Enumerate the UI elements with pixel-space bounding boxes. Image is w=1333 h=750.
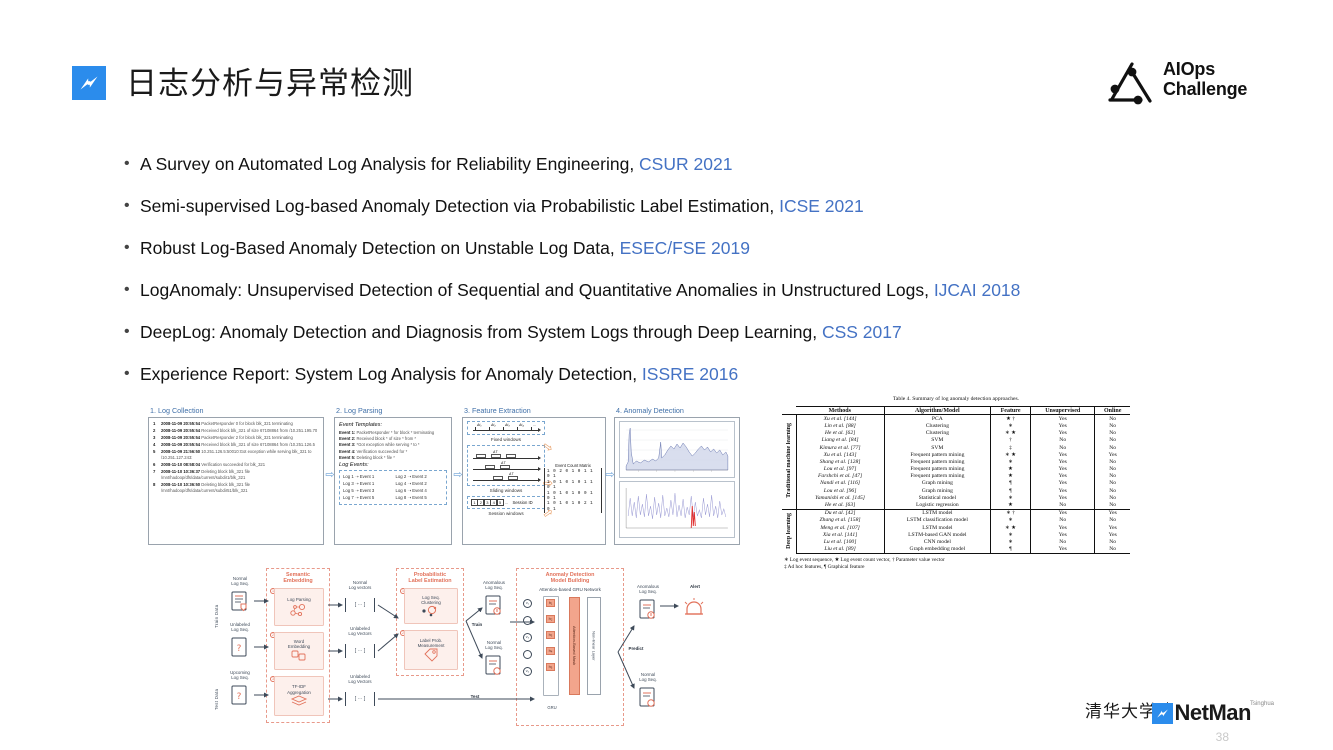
cell-unsupervised: Yes bbox=[1031, 422, 1095, 429]
cell-online: No bbox=[1095, 487, 1130, 494]
cell-model: Graph mining bbox=[884, 487, 990, 494]
log-index: 7 bbox=[153, 469, 161, 482]
col-header-model: Algorithm/Model bbox=[884, 407, 990, 415]
cell-model: Frequent pattern mining bbox=[884, 466, 990, 473]
gru-input-column: v₁ v₃ v₅ bbox=[523, 599, 532, 676]
output-anomalous-doc-icon bbox=[638, 598, 658, 620]
gru-input-node bbox=[523, 616, 532, 625]
panel-title: 1. Log Collection bbox=[150, 406, 324, 415]
table-row: Meng et al. [107]LSTM model∗ ★YesYes bbox=[782, 524, 1130, 531]
gru-input-node: v₁ bbox=[523, 599, 532, 608]
cell-method: Lou et al. [96] bbox=[796, 487, 884, 494]
template-line: Event 5: Deleting block * file * bbox=[339, 455, 447, 461]
cell-model: CNN model bbox=[884, 538, 990, 545]
cell-feature: ∗ bbox=[991, 538, 1031, 545]
log-index: 2 bbox=[153, 428, 161, 434]
card-label-prob-measurement: Label Prob. Measurement bbox=[404, 630, 458, 670]
vector-normal: [ ⋯ ] bbox=[345, 598, 375, 612]
normal-log-doc-icon-2 bbox=[484, 654, 504, 676]
vector-label-upcoming: UnlabeledLog Vectors bbox=[338, 674, 382, 685]
table-row: Kimura et al. [77]SVM‡NoNo bbox=[782, 444, 1130, 451]
cell-feature: ∗ bbox=[991, 531, 1031, 538]
table-row: Lin et al. [88]Clustering∗YesNo bbox=[782, 422, 1130, 429]
cell-unsupervised: Yes bbox=[1031, 546, 1095, 554]
log-event-map: Log 2 ➝ Event 2 bbox=[396, 474, 444, 480]
log-line: 22008-11-09 20:55:54 Received block blk_… bbox=[153, 428, 319, 434]
train-arrow-label: Train bbox=[460, 622, 494, 627]
table-row: Liu et al. [89]Graph embedding model¶Yes… bbox=[782, 546, 1130, 554]
reference-title: Robust Log-Based Anomaly Detection on Un… bbox=[140, 238, 620, 258]
cell-unsupervised: Yes bbox=[1031, 466, 1095, 473]
axis: Δt₁ Δt₂ Δt₃ Δt₄ … bbox=[471, 424, 541, 432]
netman-n-logo-icon bbox=[72, 66, 106, 100]
cell-model: Logistic regression bbox=[884, 501, 990, 509]
cell-online: No bbox=[1095, 480, 1130, 487]
reference-title: Semi-supervised Log-based Anomaly Detect… bbox=[140, 196, 779, 216]
cell-method: Xu et al. [144] bbox=[796, 415, 884, 423]
table-row: Lou et al. [97]Frequent pattern mining★Y… bbox=[782, 466, 1130, 473]
matrix-row: 1 0 1 0 1 0 2 1 0 1 bbox=[547, 501, 599, 512]
graph-nodes-icon bbox=[289, 603, 309, 617]
reference-title: DeepLog: Anomaly Detection and Diagnosis… bbox=[140, 322, 822, 342]
cell-method: Nandi et al. [116] bbox=[796, 480, 884, 487]
cell-online: Yes bbox=[1095, 451, 1130, 458]
matrix-row: 1 0 1 0 1 0 0 1 0 1 bbox=[547, 491, 599, 502]
log-line: 72008-11-10 10:36:37 Deleting block blk_… bbox=[153, 469, 319, 482]
log-timestamp: 2008-11-10 08:58:04 bbox=[161, 462, 200, 467]
cell-unsupervised: No bbox=[1031, 501, 1095, 509]
cell-feature: ‡ bbox=[991, 444, 1031, 451]
cell-feature: ★ † bbox=[991, 415, 1031, 423]
vector-label-unlabeled: UnlabeledLog Vectors bbox=[338, 626, 382, 637]
cell-model: LSTM model bbox=[884, 509, 990, 517]
anomaly-timeseries-chart-2 bbox=[619, 481, 735, 538]
aiops-wordmark: AIOps Challenge bbox=[1163, 59, 1247, 99]
cell-online: No bbox=[1095, 538, 1130, 545]
log-collection-box: 12008-11-09 20:55:54 PacketResponder 0 f… bbox=[148, 417, 324, 545]
table-row: Xia et al. [141]LSTM-based GAN model∗Yes… bbox=[782, 531, 1130, 538]
reference-text: Semi-supervised Log-based Anomaly Detect… bbox=[140, 194, 864, 218]
blocks-icon bbox=[290, 649, 308, 663]
cell-model: Graph mining bbox=[884, 480, 990, 487]
cell-method: Kimura et al. [77] bbox=[796, 444, 884, 451]
cell-model: LSTM classification model bbox=[884, 517, 990, 524]
table-row: He et al. [63]Logistic regression★NoNo bbox=[782, 501, 1130, 509]
log-line: 42008-11-09 20:55:54 Received block blk_… bbox=[153, 442, 319, 448]
cell-unsupervised: Yes bbox=[1031, 509, 1095, 517]
log-event-map: Log 3 ➝ Event 1 bbox=[343, 481, 391, 487]
col-header-methods: Methods bbox=[796, 407, 884, 415]
log-timestamp: 2008-11-09 20:55:54 bbox=[161, 428, 200, 433]
log-timestamp: 2008-11-10 10:36:50 bbox=[161, 482, 200, 487]
cell-online: No bbox=[1095, 473, 1130, 480]
card-word-embedding: Word Embedding bbox=[274, 632, 324, 670]
cell-online: Yes bbox=[1095, 524, 1130, 531]
log-timestamp: 2008-11-09 20:55:54 bbox=[161, 435, 200, 440]
aiops-triangle-icon bbox=[1105, 59, 1157, 107]
cell-method: Yamanishi et al. [145] bbox=[796, 494, 884, 501]
reference-text: A Survey on Automated Log Analysis for R… bbox=[140, 152, 732, 176]
output-label-normal: NormalLog Seq. bbox=[626, 672, 670, 683]
fixed-tick-label: Δt₄ bbox=[519, 423, 524, 427]
sliding-windows-axis: ΔT ΔT ΔT bbox=[467, 445, 545, 486]
cell-method: Xu et al. [143] bbox=[796, 451, 884, 458]
fixed-tick-label: Δt₁ bbox=[477, 423, 482, 427]
gru-input-node bbox=[523, 650, 532, 659]
matrix-body: 1 0 2 0 1 0 1 1 0 1 1 0 1 0 1 0 1 1 0 1 … bbox=[544, 468, 602, 513]
cell-method: Lin et al. [88] bbox=[796, 422, 884, 429]
cell-online: No bbox=[1095, 458, 1130, 465]
alert-bell-icon bbox=[682, 596, 706, 620]
fixed-windows-axis: Δt₁ Δt₂ Δt₃ Δt₄ … bbox=[467, 421, 545, 435]
reference-text: DeepLog: Anomaly Detection and Diagnosis… bbox=[140, 320, 902, 344]
reference-title: Experience Report: System Log Analysis f… bbox=[140, 364, 642, 384]
non-linear-layer-bar: Non-linear Layer bbox=[587, 597, 601, 695]
svg-text:?: ? bbox=[237, 644, 242, 654]
alert-label: Alert bbox=[680, 584, 710, 589]
cell-model: Frequent pattern mining bbox=[884, 451, 990, 458]
log-line: 82008-11-10 10:36:50 Deleting block blk_… bbox=[153, 482, 319, 495]
cell-unsupervised: Yes bbox=[1031, 494, 1095, 501]
slide-header: 日志分析与异常检测 AIOps Challenge bbox=[0, 0, 1333, 130]
cell-unsupervised: Yes bbox=[1031, 415, 1095, 423]
table-header-row: Methods Algorithm/Model Feature Unsuperv… bbox=[782, 407, 1130, 415]
gru-network: v₁ v₃ v₅ h₁ h₂ h₃ h₄ h₅ GRU Attention-Ba… bbox=[517, 595, 623, 703]
matrix-row: 1 0 1 0 1 0 1 1 0 1 bbox=[547, 480, 599, 491]
log-line: 52008-11-09 21:56:50 10.251.126.5:50010:… bbox=[153, 449, 319, 462]
cell-model: Frequent pattern mining bbox=[884, 458, 990, 465]
bullet-marker: • bbox=[124, 194, 140, 218]
reference-title: LogAnomaly: Unsupervised Detection of Se… bbox=[140, 280, 934, 300]
template-name: Event 3: bbox=[339, 442, 355, 447]
tsinghua-university-logo: 清华大学 bbox=[1085, 697, 1157, 722]
output-label-anomalous: AnomalousLog Seq. bbox=[626, 584, 670, 595]
cell-online: No bbox=[1095, 517, 1130, 524]
reference-venue: ESEC/FSE 2019 bbox=[620, 238, 750, 258]
cell-model: Frequent pattern mining bbox=[884, 473, 990, 480]
log-event-map: Log 4 ➝ Event 2 bbox=[396, 481, 444, 487]
card-log-parsing: Log Parsing bbox=[274, 588, 324, 626]
cell-method: Zhang et al. [158] bbox=[796, 517, 884, 524]
cell-method: Liu et al. [89] bbox=[796, 546, 884, 554]
branch-label-anomalous: AnomalousLog Seq. bbox=[472, 580, 516, 591]
netman-superscript: Tsinghua bbox=[1250, 701, 1274, 707]
log-line: 32008-11-09 20:55:54 PacketResponder 2 f… bbox=[153, 435, 319, 441]
event-templates-label: Event Templates: bbox=[339, 422, 447, 428]
cell-online: Yes bbox=[1095, 509, 1130, 517]
cell-feature: ★ bbox=[991, 466, 1031, 473]
group-label-traditional: Traditional machine learning bbox=[782, 415, 796, 509]
panel-log-collection: 1. Log Collection 12008-11-09 20:55:54 P… bbox=[148, 406, 324, 554]
table-row: Lou et al. [96]Graph mining¶YesNo bbox=[782, 487, 1130, 494]
cell-unsupervised: Yes bbox=[1031, 430, 1095, 437]
cell-model: Clustering bbox=[884, 422, 990, 429]
cell-online: No bbox=[1095, 501, 1130, 509]
bullet-marker: • bbox=[124, 278, 140, 302]
delta-t-label: ΔT bbox=[509, 472, 514, 476]
netman-logo: NetMan Tsinghua bbox=[1152, 700, 1275, 726]
table-row: He et al. [62]Clustering∗ ★YesNo bbox=[782, 430, 1130, 437]
cell-online: Yes bbox=[1095, 531, 1130, 538]
table-row: Farshchi et al. [47]Frequent pattern min… bbox=[782, 473, 1130, 480]
session-windows-caption: Session windows bbox=[467, 511, 545, 516]
svg-text:?: ? bbox=[237, 692, 242, 702]
log-body: 2008-11-09 20:55:54 PacketResponder 2 fo… bbox=[161, 435, 319, 441]
reference-title: A Survey on Automated Log Analysis for R… bbox=[140, 154, 639, 174]
template-name: Event 1: bbox=[339, 430, 355, 435]
bullet-marker: • bbox=[124, 152, 140, 176]
stage3-subtitle: Attention-based GRU Network bbox=[517, 587, 623, 592]
fixed-tick-label: Δt₃ bbox=[505, 423, 510, 427]
stage3-title: Anomaly DetectionModel Building bbox=[517, 569, 623, 585]
gru-label: GRU bbox=[540, 705, 564, 710]
col-header-feature: Feature bbox=[991, 407, 1031, 415]
cell-unsupervised: No bbox=[1031, 538, 1095, 545]
template-name: Event 5: bbox=[339, 455, 355, 460]
fixed-windows-group: Δt₁ Δt₂ Δt₃ Δt₄ … Fixed windows ΔT bbox=[467, 421, 545, 516]
upcoming-log-doc-icon: ? bbox=[230, 684, 250, 706]
cell-method: He et al. [63] bbox=[796, 501, 884, 509]
fixed-tick-label: … bbox=[533, 423, 537, 427]
stage1-title: SemanticEmbedding bbox=[267, 569, 329, 585]
log-body: 2008-11-09 20:55:54 PacketResponder 0 fo… bbox=[161, 421, 319, 427]
side-label-train-data: Train Data bbox=[214, 580, 219, 628]
log-timestamp: 2008-11-09 20:55:54 bbox=[161, 442, 200, 447]
slide-footer: 清华大学 NetMan Tsinghua 38 bbox=[973, 678, 1333, 750]
cell-model: SVM bbox=[884, 444, 990, 451]
cell-method: Xia et al. [141] bbox=[796, 531, 884, 538]
col-header-unsupervised: Unsupervised bbox=[1031, 407, 1095, 415]
cell-online: No bbox=[1095, 415, 1130, 423]
anomaly-timeseries-chart-1 bbox=[619, 421, 735, 478]
log-events-box: Log 1 ➝ Event 1 Log 2 ➝ Event 2 Log 3 ➝ … bbox=[339, 470, 447, 505]
log-event-map: Log 5 ➝ Event 3 bbox=[343, 488, 391, 494]
stage2-title: ProbabilisticLabel Estimation bbox=[397, 569, 463, 585]
log-body: 2008-11-09 21:56:50 10.251.126.5:50010:G… bbox=[161, 449, 319, 462]
log-body: 2008-11-10 10:36:50 Deleting block blk_3… bbox=[161, 482, 319, 495]
feature-extraction-box: Δt₁ Δt₂ Δt₃ Δt₄ … Fixed windows ΔT bbox=[462, 417, 606, 545]
log-message: PacketResponder 0 for block blk_321 term… bbox=[201, 421, 292, 426]
delta-t-label: ΔT bbox=[493, 450, 498, 454]
anomalous-log-doc-icon bbox=[484, 594, 504, 616]
cell-online: No bbox=[1095, 430, 1130, 437]
log-index: 6 bbox=[153, 462, 161, 468]
page-title: 日志分析与异常检测 bbox=[126, 58, 414, 103]
sliding-windows-caption: Sliding windows bbox=[467, 488, 545, 493]
cell-feature: ∗ ★ bbox=[991, 451, 1031, 458]
table-row: Nandi et al. [116]Graph mining¶YesNo bbox=[782, 480, 1130, 487]
panel-title: 3. Feature Extraction bbox=[464, 406, 606, 415]
template-name: Event 4: bbox=[339, 449, 355, 454]
template-body: Received block * of size * from * bbox=[356, 436, 416, 441]
gru-hidden-cell: h₅ bbox=[546, 663, 555, 671]
cell-online: No bbox=[1095, 444, 1130, 451]
fixed-windows-caption: Fixed windows bbox=[467, 437, 545, 442]
cell-method: Liang et al. [84] bbox=[796, 437, 884, 444]
panel-title: 2. Log Parsing bbox=[336, 406, 452, 415]
template-line: Event 4: Verification succeeded for * bbox=[339, 449, 447, 455]
log-index: 3 bbox=[153, 435, 161, 441]
reference-venue: CSS 2017 bbox=[822, 322, 902, 342]
log-timestamp: 2008-11-10 10:36:37 bbox=[161, 469, 200, 474]
log-parsing-box: Event Templates: Event 1: PacketResponde… bbox=[334, 417, 452, 545]
page-number: 38 bbox=[1216, 730, 1229, 744]
gru-hidden-cell: h₂ bbox=[546, 615, 555, 623]
cell-unsupervised: No bbox=[1031, 517, 1095, 524]
table-row: Lu et al. [100]CNN model∗NoNo bbox=[782, 538, 1130, 545]
cell-feature: ¶ bbox=[991, 546, 1031, 554]
cell-feature: ∗ bbox=[991, 458, 1031, 465]
cell-unsupervised: Yes bbox=[1031, 480, 1095, 487]
reference-text: Experience Report: System Log Analysis f… bbox=[140, 362, 738, 386]
bullet-marker: • bbox=[124, 236, 140, 260]
cell-feature: ¶ bbox=[991, 480, 1031, 487]
cell-feature: ¶ bbox=[991, 487, 1031, 494]
list-item: • A Survey on Automated Log Analysis for… bbox=[124, 152, 1244, 194]
side-label-test-data: Test Data bbox=[214, 670, 219, 710]
session-id-label: Session ID bbox=[512, 500, 532, 505]
axis: ΔT bbox=[471, 461, 541, 472]
cell-model: SVM bbox=[884, 437, 990, 444]
table-row: Liang et al. [84]SVM†NoNo bbox=[782, 437, 1130, 444]
branch-label-normal: NormalLog Seq. bbox=[472, 640, 516, 651]
vector-label-normal: NormalLog vectors bbox=[338, 580, 382, 591]
normal-log-doc-icon bbox=[230, 590, 250, 612]
card-log-seq-clustering: Log Seq. Clustering bbox=[404, 588, 458, 624]
card-tfidf-aggregation: TF-IDF Aggregation bbox=[274, 676, 324, 716]
log-index: 1 bbox=[153, 421, 161, 427]
cell-method: Farshchi et al. [47] bbox=[796, 473, 884, 480]
cell-unsupervised: Yes bbox=[1031, 524, 1095, 531]
gru-input-node: v₃ bbox=[523, 633, 532, 642]
bullet-marker: • bbox=[124, 362, 140, 386]
vector-unlabeled: [ ⋯ ] bbox=[345, 644, 375, 658]
stack-icon bbox=[290, 695, 308, 708]
input-label-upcoming: UpcomingLog Seq. bbox=[220, 670, 260, 681]
col-header-online: Online bbox=[1095, 407, 1130, 415]
reference-venue: ICSE 2021 bbox=[779, 196, 864, 216]
cell-online: No bbox=[1095, 494, 1130, 501]
log-event-map: Log 1 ➝ Event 1 bbox=[343, 474, 391, 480]
cell-feature: ∗ ★ bbox=[991, 430, 1031, 437]
delta-t-label: ΔT bbox=[501, 461, 506, 465]
log-events-label: Log Events: bbox=[339, 462, 447, 468]
cell-unsupervised: No bbox=[1031, 437, 1095, 444]
cell-method: Lu et al. [100] bbox=[796, 538, 884, 545]
input-label-unlabeled: UnlabeledLog Seq. bbox=[220, 622, 260, 633]
cell-feature: ∗ ★ bbox=[991, 524, 1031, 531]
tag-icon bbox=[423, 648, 439, 662]
table-row: Traditional machine learning Xu et al. [… bbox=[782, 415, 1130, 423]
template-line: Event 3: *Got exception while serving * … bbox=[339, 442, 447, 448]
aiops-challenge-logo: AIOps Challenge bbox=[1105, 55, 1265, 113]
gru-cell-column: h₁ h₂ h₃ h₄ h₅ bbox=[546, 599, 555, 671]
footnote-line-2: ‡ Ad hoc features, ¶ Graphical feature bbox=[784, 564, 1130, 571]
cell-online: No bbox=[1095, 437, 1130, 444]
template-name: Event 2: bbox=[339, 436, 355, 441]
template-body: Deleting block * file * bbox=[356, 455, 394, 460]
predict-arrow-label: Predict bbox=[620, 646, 652, 651]
log-body: 2008-11-10 10:36:37 Deleting block blk_3… bbox=[161, 469, 319, 482]
log-body: 2008-11-10 08:58:04 Verification succeed… bbox=[161, 462, 319, 468]
stage-anomaly-detection-model-building: Anomaly DetectionModel Building Attentio… bbox=[516, 568, 624, 726]
log-event-map: Log 8 ➝ Event 5 bbox=[396, 495, 444, 501]
axis: ΔT bbox=[471, 472, 541, 483]
cell-unsupervised: No bbox=[1031, 444, 1095, 451]
table-footnotes: ∗ Log event sequence, ★ Log event count … bbox=[782, 557, 1130, 571]
log-body: 2008-11-09 20:55:54 Received block blk_3… bbox=[161, 428, 319, 434]
output-normal-doc-icon bbox=[638, 686, 658, 708]
session-row: 1 2 3 4 5 … Session ID bbox=[471, 499, 541, 506]
table4-figure: Table 4. Summary of log anomaly detectio… bbox=[782, 396, 1130, 671]
cell-unsupervised: Yes bbox=[1031, 451, 1095, 458]
table-row: Shang et al. [128]Frequent pattern minin… bbox=[782, 458, 1130, 465]
table-row: Yamanishi et al. [145]Statistical model∗… bbox=[782, 494, 1130, 501]
cell-feature: ∗ † bbox=[991, 509, 1031, 517]
reference-text: LogAnomaly: Unsupervised Detection of Se… bbox=[140, 278, 1020, 302]
cell-model: Graph embedding model bbox=[884, 546, 990, 554]
gru-hidden-cell: h₃ bbox=[546, 631, 555, 639]
list-item: • Robust Log-Based Anomaly Detection on … bbox=[124, 236, 1244, 278]
template-body: PacketResponder * for block * terminatin… bbox=[356, 430, 434, 435]
cell-unsupervised: Yes bbox=[1031, 458, 1095, 465]
template-body: Verification succeeded for * bbox=[356, 449, 407, 454]
cell-method: Meng et al. [107] bbox=[796, 524, 884, 531]
log-index: 5 bbox=[153, 449, 161, 462]
vector-upcoming: [ ⋯ ] bbox=[345, 692, 375, 706]
reference-venue: ISSRE 2016 bbox=[642, 364, 738, 384]
cell-feature: ★ bbox=[991, 473, 1031, 480]
cell-unsupervised: Yes bbox=[1031, 531, 1095, 538]
cell-unsupervised: Yes bbox=[1031, 487, 1095, 494]
fixed-tick-label: Δt₂ bbox=[491, 423, 496, 427]
cell-method: Du et al. [42] bbox=[796, 509, 884, 517]
cell-feature: ★ bbox=[991, 501, 1031, 509]
panel-anomaly-detection: 4. Anomaly Detection bbox=[614, 406, 740, 554]
cell-online: No bbox=[1095, 466, 1130, 473]
cell-method: Lou et al. [97] bbox=[796, 466, 884, 473]
gru-input-node: v₅ bbox=[523, 667, 532, 676]
cell-online: No bbox=[1095, 546, 1130, 554]
unlabeled-log-doc-icon: ? bbox=[230, 636, 250, 658]
anomaly-detection-box bbox=[614, 417, 740, 545]
footnote-line-1: ∗ Log event sequence, ★ Log event count … bbox=[784, 557, 1130, 564]
session-windows-axis: 1 2 3 4 5 … Session ID bbox=[467, 496, 545, 509]
cell-model: LSTM-based GAN model bbox=[884, 531, 990, 538]
test-arrow-label: Test bbox=[460, 694, 490, 699]
gru-hidden-cell: h₄ bbox=[546, 647, 555, 655]
aiops-line2: Challenge bbox=[1163, 79, 1247, 99]
log-message: PacketResponder 2 for block blk_321 term… bbox=[201, 435, 292, 440]
template-body: *Got exception while serving * to * bbox=[356, 442, 419, 447]
log-line: 12008-11-09 20:55:54 PacketResponder 0 f… bbox=[153, 421, 319, 427]
panel-title: 4. Anomaly Detection bbox=[616, 406, 740, 415]
cell-model: Clustering bbox=[884, 430, 990, 437]
cell-unsupervised: Yes bbox=[1031, 473, 1095, 480]
cell-model: PCA bbox=[884, 415, 990, 423]
log-timestamp: 2008-11-09 21:56:50 bbox=[161, 449, 200, 454]
template-line: Event 1: PacketResponder * for block * t… bbox=[339, 430, 447, 436]
cell-feature: ∗ bbox=[991, 494, 1031, 501]
cell-method: Shang et al. [128] bbox=[796, 458, 884, 465]
session-cell: … bbox=[503, 499, 510, 506]
table-row: Deep learning Du et al. [42] LSTM model … bbox=[782, 509, 1130, 517]
summary-table: Methods Algorithm/Model Feature Unsuperv… bbox=[782, 406, 1130, 554]
cluster-icon bbox=[420, 605, 442, 617]
cell-feature: ∗ bbox=[991, 517, 1031, 524]
cell-method: He et al. [62] bbox=[796, 430, 884, 437]
log-event-map: Log 7 ➝ Event 5 bbox=[343, 495, 391, 501]
